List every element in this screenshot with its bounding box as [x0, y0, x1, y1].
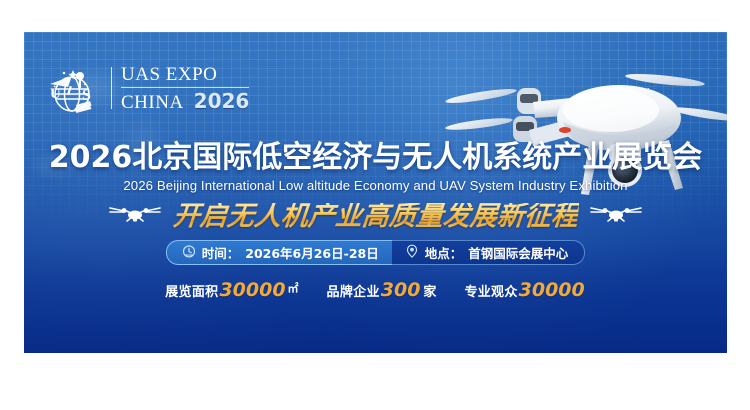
globe-satellite-icon: Ü S: [42, 60, 104, 116]
event-venue-value: 首钢国际会展中心: [468, 243, 568, 262]
event-date-value: 2026年6月26日-28日: [245, 243, 378, 262]
svg-text:S: S: [82, 87, 91, 104]
logo-line-china-year: CHINA 2026: [121, 88, 249, 112]
event-info-bar: 时间： 2026年6月26日-28日 地点： 首钢国际会展中心: [24, 240, 727, 265]
event-date-label: 时间：: [202, 243, 240, 262]
logo-divider: [111, 67, 112, 109]
page-root: Ü S UAS EXPO CHINA 2026 2026北京国际低空经济与无人机…: [0, 0, 750, 410]
page-subtitle: 2026 Beijing International Low altitude …: [24, 178, 727, 193]
page-title: 2026北京国际低空经济与无人机系统产业展览会: [24, 142, 727, 174]
stat-item: 展览面积 30000 ㎡: [165, 279, 298, 301]
event-date-pill: 时间： 2026年6月26日-28日: [166, 240, 392, 265]
stat-unit: ㎡: [287, 280, 299, 296]
stat-item: 品牌企业 300 家: [327, 279, 437, 301]
headline-group: 2026北京国际低空经济与无人机系统产业展览会 2026 Beijing Int…: [24, 142, 727, 193]
stat-label: 专业观众: [464, 281, 517, 300]
event-venue-pill: 地点： 首钢国际会展中心: [392, 240, 586, 265]
stat-item: 专业观众 30000: [464, 279, 585, 301]
stat-value: 30000: [218, 279, 286, 301]
map-pin-icon: [405, 244, 419, 261]
stat-label: 品牌企业: [327, 281, 380, 300]
slogan-group: 开启无人机产业高质量发展新征程: [24, 200, 727, 233]
svg-text:Ü: Ü: [50, 85, 61, 102]
stat-value: 30000: [518, 279, 586, 301]
drone-icon: [107, 200, 163, 233]
calendar-clock-icon: [182, 244, 196, 261]
logo-line-uas-expo: UAS EXPO: [121, 65, 249, 88]
stat-value: 300: [380, 279, 422, 301]
stat-label: 展览面积: [165, 281, 218, 300]
drone-icon: [588, 200, 644, 233]
logo-year-label: 2026: [194, 91, 250, 111]
stat-unit: 家: [421, 281, 436, 300]
event-stats-row: 展览面积 30000 ㎡ 品牌企业 300 家 专业观众 30000: [24, 279, 727, 301]
slogan-text: 开启无人机产业高质量发展新征程: [172, 203, 579, 230]
exhibition-banner: Ü S UAS EXPO CHINA 2026 2026北京国际低空经济与无人机…: [24, 32, 727, 353]
event-logo: Ü S UAS EXPO CHINA 2026: [42, 60, 249, 116]
logo-country-label: CHINA: [121, 93, 184, 112]
logo-wordmark: UAS EXPO CHINA 2026: [119, 65, 249, 112]
event-venue-label: 地点：: [425, 243, 463, 262]
